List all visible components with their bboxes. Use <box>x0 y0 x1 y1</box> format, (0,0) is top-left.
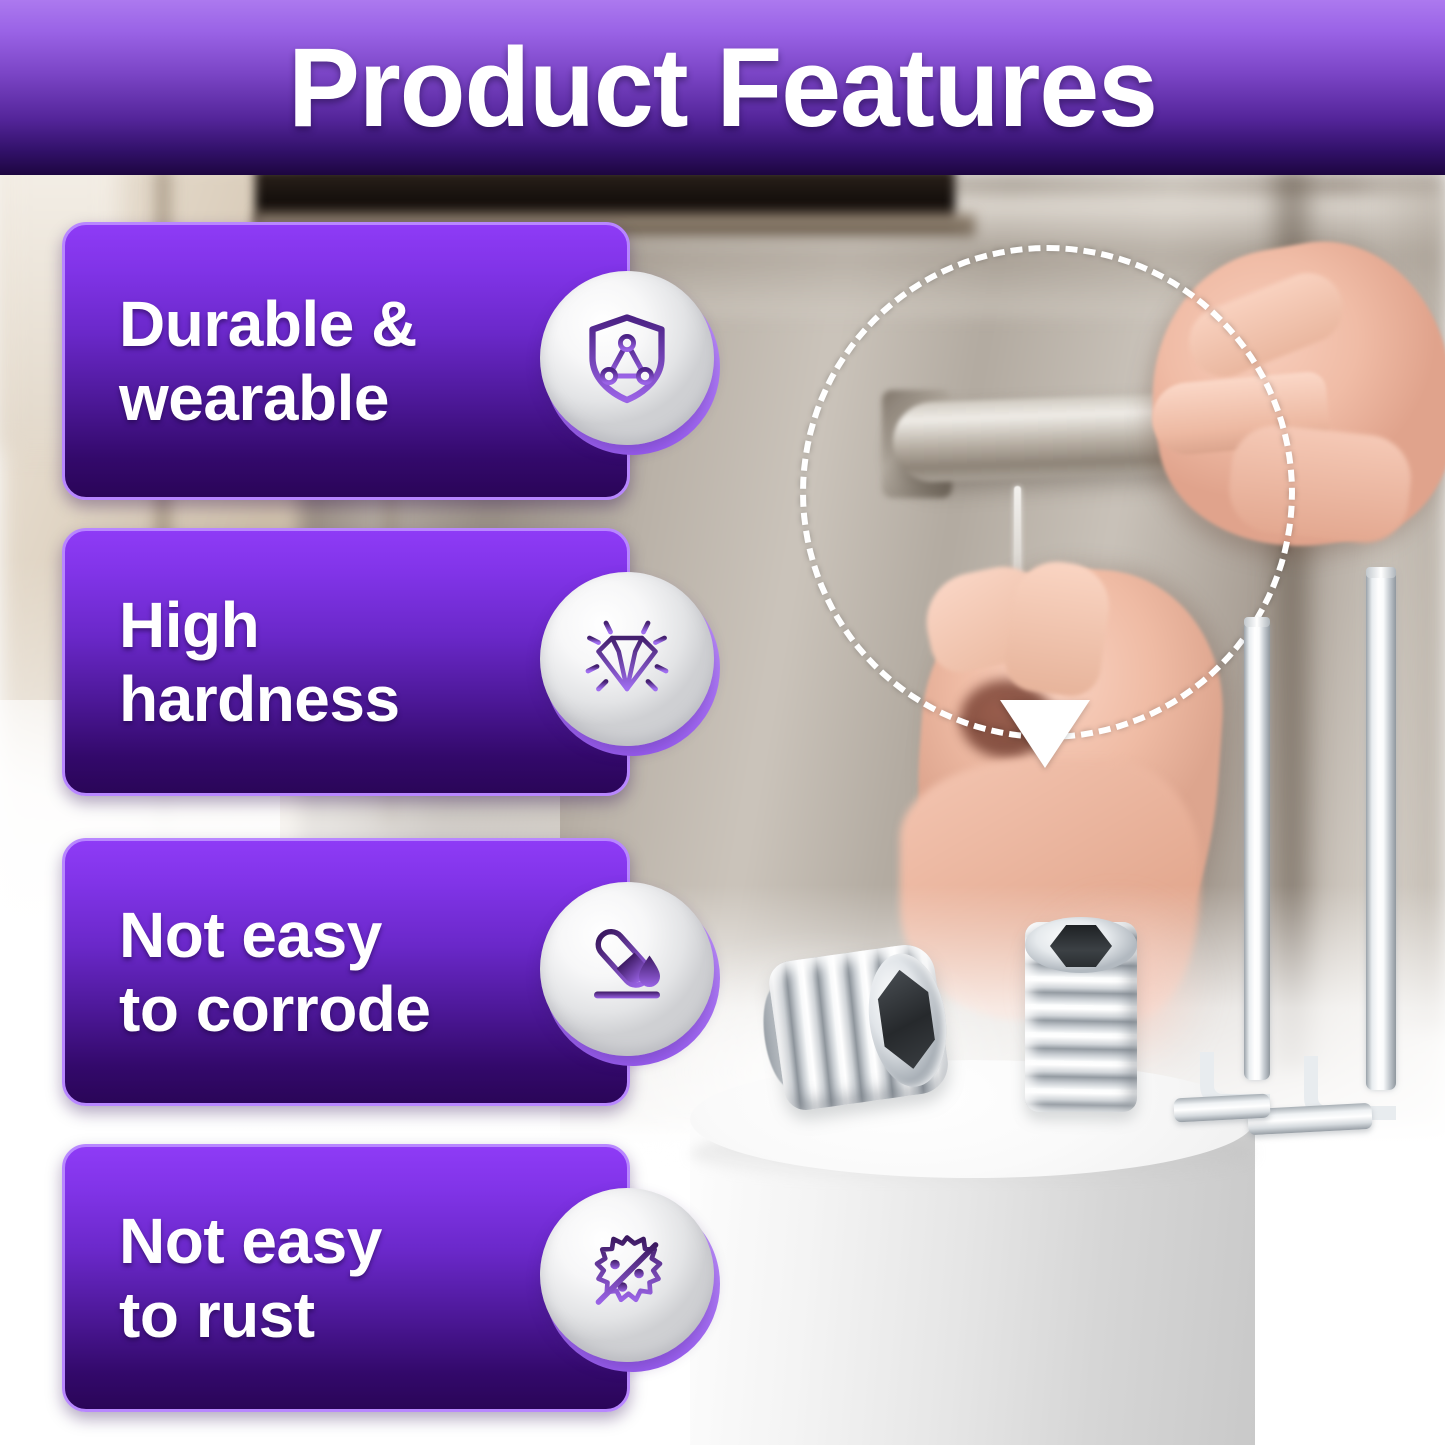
feature-label: Not easy to rust <box>119 1204 382 1352</box>
feature-item-high-hardness[interactable]: High hardness <box>62 528 630 796</box>
feature-item-not-easy-to-rust[interactable]: Not easy to rust <box>62 1144 630 1412</box>
feature-label: Durable & wearable <box>119 287 417 435</box>
feature-icon-badge <box>540 882 720 1062</box>
shield-triangle-nodes-icon <box>579 310 675 406</box>
feature-icon-badge <box>540 271 720 451</box>
down-triangle-pointer <box>1000 700 1090 768</box>
infographic-canvas: Product Features Durable & wearable <box>0 0 1445 1445</box>
icon-disc <box>540 572 714 746</box>
set-screw-lying <box>766 941 951 1113</box>
test-tube-drip-icon <box>579 921 675 1017</box>
header-banner: Product Features <box>0 0 1445 175</box>
hex-key-short-tip <box>1244 617 1270 627</box>
pedestal-top-face <box>690 1060 1255 1178</box>
hex-key-long-tip <box>1366 567 1396 578</box>
feature-label: High hardness <box>119 588 400 736</box>
set-screw-standing <box>1025 922 1137 1112</box>
feature-icon-badge <box>540 572 720 752</box>
diamond-sparkle-icon <box>579 611 675 707</box>
icon-disc <box>540 271 714 445</box>
hex-key-short-arm <box>1173 1094 1270 1123</box>
page-title: Product Features <box>288 32 1157 144</box>
feature-icon-badge <box>540 1188 720 1368</box>
feature-item-durable-wearable[interactable]: Durable & wearable <box>62 222 630 500</box>
hex-key-long-shaft <box>1366 570 1396 1090</box>
hex-key-short-shaft <box>1244 620 1270 1080</box>
icon-disc <box>540 882 714 1056</box>
feature-list: Durable & wearable <box>0 0 760 1445</box>
feature-label: Not easy to corrode <box>119 898 430 1046</box>
rust-blob-crossed-icon <box>579 1227 675 1323</box>
hex-key-short <box>1174 620 1304 1150</box>
icon-disc <box>540 1188 714 1362</box>
feature-item-not-easy-to-corrode[interactable]: Not easy to corrode <box>62 838 630 1106</box>
